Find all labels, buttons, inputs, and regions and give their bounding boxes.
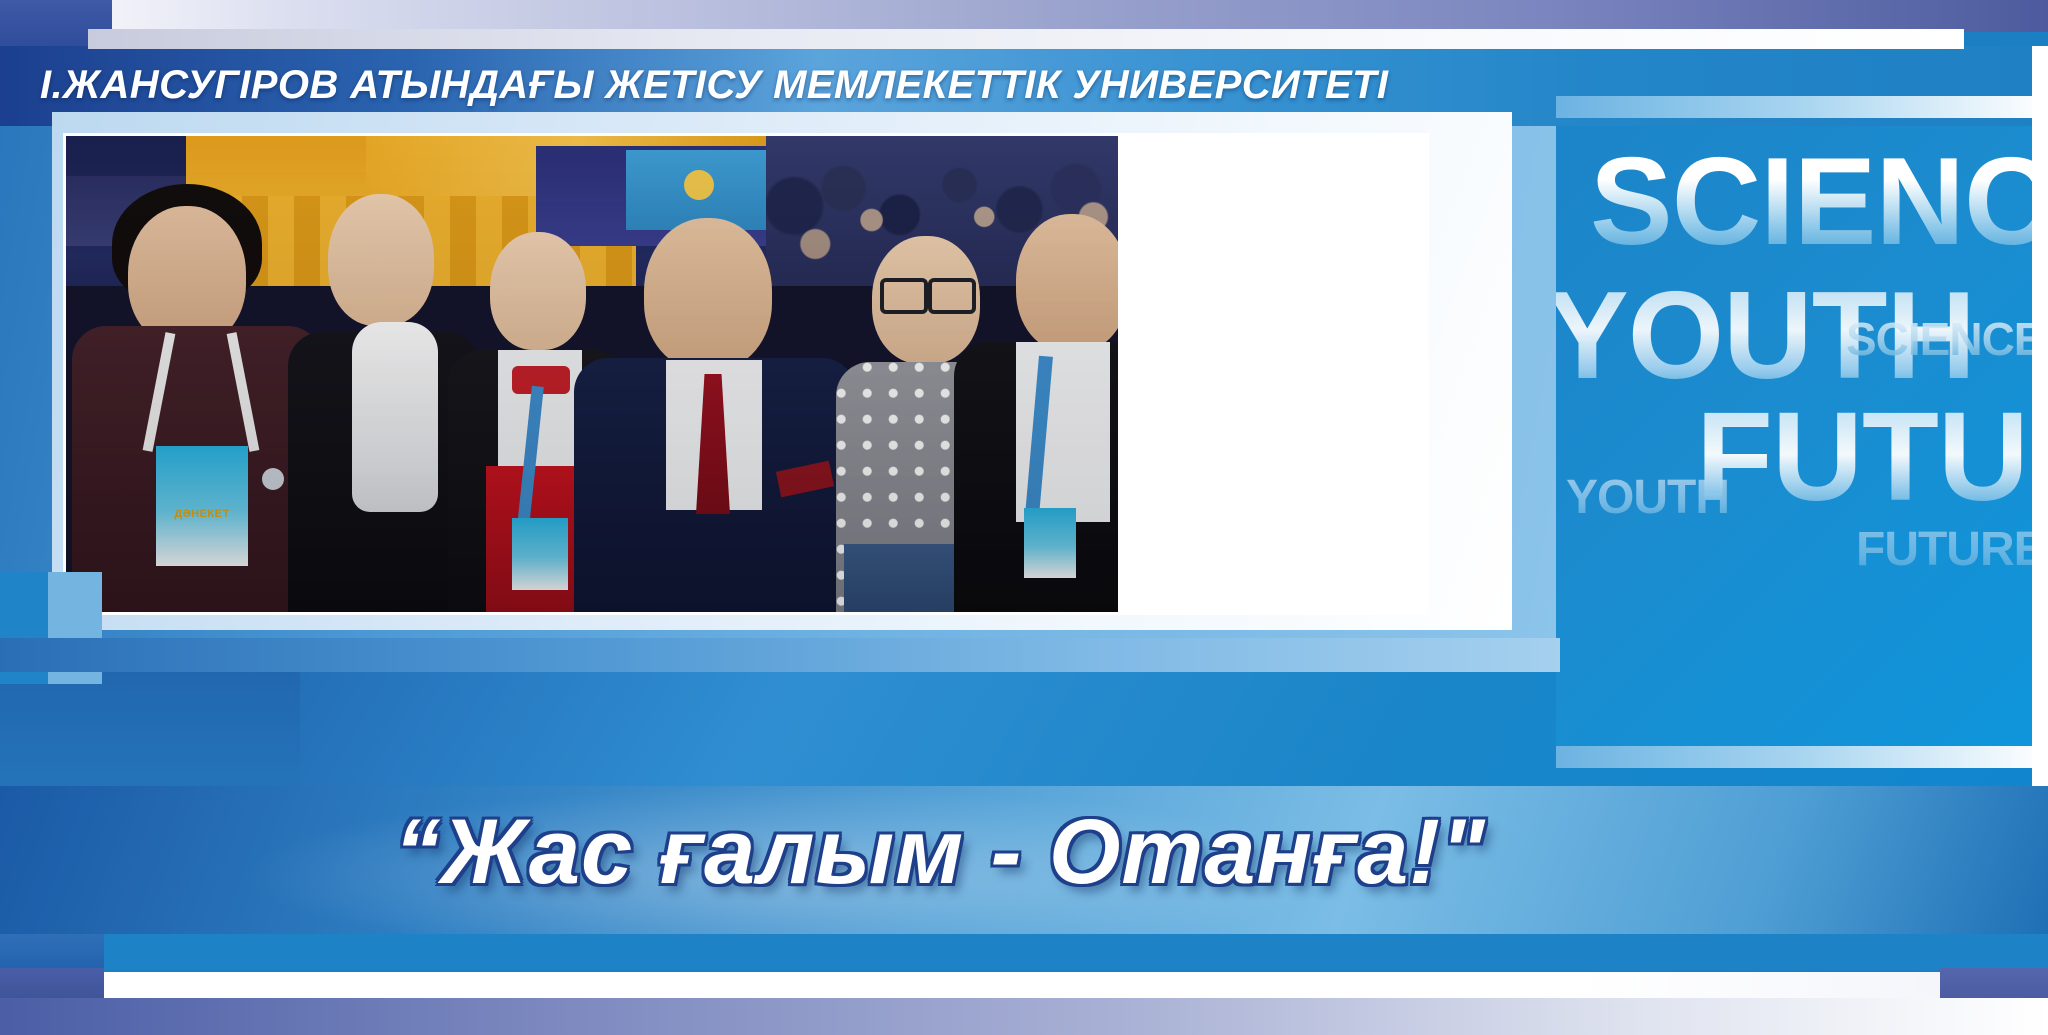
bottom-gradient-band — [0, 998, 2048, 1035]
slogan-top-plate — [0, 638, 1560, 672]
word-science-large: SCIENCE — [1590, 140, 2048, 264]
top-white-strip — [88, 29, 1964, 49]
bottom-blue-band — [0, 934, 2048, 970]
bottom-right-navy-block — [1940, 968, 2048, 1002]
bottom-left-blue-block — [0, 934, 104, 970]
cloud-bottom-light-strip — [1556, 746, 2048, 768]
university-banner: І.ЖАНСУГІРОВ АТЫНДАҒЫ ЖЕТІСУ МЕМЛЕКЕТТІК… — [0, 0, 2048, 1035]
top-gradient-slab — [0, 0, 2048, 32]
group-photo: ДӘНЕКЕТ — [66, 136, 1118, 612]
word-science-small: SCIENCE — [1846, 316, 2043, 362]
word-future-small: FUTURE — [1856, 526, 2045, 574]
cloud-top-light-strip — [1556, 96, 2048, 118]
photo-tone-overlay — [66, 136, 1118, 612]
bottom-left-navy-block — [0, 968, 104, 1002]
word-cloud-panel: SCIENCE YOUTH SCIENCE YOUTH FUTURE FUTUR… — [1556, 126, 2048, 746]
bottom-white-strip — [104, 972, 1940, 998]
slogan-text: “Жас ғалым - Отанға!" — [0, 800, 1880, 905]
word-future-large: FUTURE — [1696, 394, 2048, 520]
